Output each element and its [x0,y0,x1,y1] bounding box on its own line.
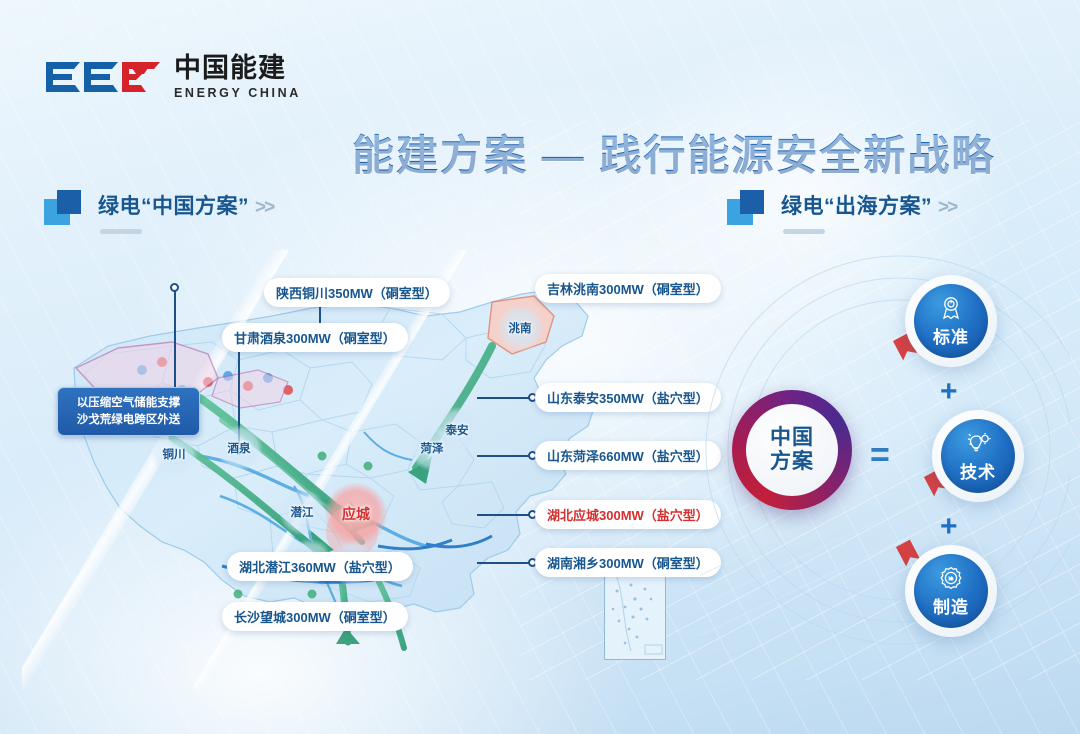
city-marker-jiuquan[interactable]: 酒泉 [228,440,251,456]
page-title: 能建方案 — 践行能源安全新战略 [352,122,995,183]
callout-hubei-qianjiang[interactable]: 湖北潜江360MW（盐穴型） [227,552,413,581]
section-underline [100,229,142,234]
city-marker-qianjiang[interactable]: 潜江 [291,504,314,520]
ceec-logo-icon [44,58,162,96]
city-label: 菏泽 [421,440,444,456]
node-label: 技术 [960,458,996,483]
info-box-transmission: 以压缩空气储能支撑 沙戈荒绿电跨区外送 [57,387,200,436]
callout-shandong-heze[interactable]: 山东菏泽660MW（盐穴型） [535,441,721,470]
leader-line [477,562,533,564]
city-label: 应城 [342,504,370,524]
center-label-line-2: 方案 [770,450,814,474]
info-box-line-2: 沙戈荒绿电跨区外送 [64,412,193,429]
city-label: 洮南 [509,320,532,336]
city-label: 潜江 [291,504,314,520]
city-marker-yingcheng[interactable]: 应城 [342,504,370,524]
poster-canvas: 中国能建 ENERGY CHINA 能建方案 — 践行能源安全新战略 绿电“中国… [0,0,1080,734]
leader-line [477,397,533,399]
chevron-right-icon: >> [938,197,956,219]
section-left-title: 绿电“中国方案” [98,190,249,220]
node-standard[interactable]: 标准 [905,275,997,367]
info-box-line-1: 以压缩空气储能支撑 [64,395,193,412]
medal-badge-icon [938,295,964,321]
city-marker-tongchuan[interactable]: 铜川 [163,446,186,462]
brand-name-cn: 中国能建 [174,55,301,82]
city-marker-heze[interactable]: 菏泽 [421,440,444,456]
section-square-icon [727,190,767,230]
callout-jilin-taonan[interactable]: 吉林洮南300MW（硐室型） [535,274,721,303]
leader-dot [170,283,179,292]
node-label: 制造 [933,593,969,618]
brand-logo: 中国能建 ENERGY CHINA [44,55,301,100]
callout-hubei-yingcheng[interactable]: 湖北应城300MW（盐穴型） [535,500,721,529]
callout-gansu-jiuquan[interactable]: 甘肃酒泉300MW（硐室型） [222,323,408,352]
node-technology[interactable]: 技术 [932,410,1024,502]
node-label: 标准 [933,323,969,348]
city-label: 铜川 [163,446,186,462]
section-header-right: 绿电“出海方案” >> [727,190,956,234]
callout-changsha-wangcheng[interactable]: 长沙望城300MW（硐室型） [222,602,408,631]
section-square-icon [44,190,84,230]
gear-factory-icon [938,565,964,591]
china-solution-diagram: 中国 方案 = 标准 + [700,250,1070,690]
center-label-line-1: 中国 [770,426,814,450]
plus-sign: + [940,512,958,542]
city-label: 酒泉 [228,440,251,456]
brand-name-en: ENERGY CHINA [174,87,301,100]
leader-line [477,514,533,516]
section-underline [783,229,825,234]
callout-shaanxi-tongchuan[interactable]: 陕西铜川350MW（硐室型） [264,278,450,307]
center-node-china-solution[interactable]: 中国 方案 [732,390,852,510]
callout-hunan-xiangxiang[interactable]: 湖南湘乡300MW（硐室型） [535,548,721,577]
equals-sign: = [870,436,890,475]
node-manufacturing[interactable]: 制造 [905,545,997,637]
section-right-title: 绿电“出海方案” [781,190,932,220]
chevron-right-icon: >> [255,197,273,219]
section-header-left: 绿电“中国方案” >> [44,190,273,234]
leader-line [477,455,533,457]
callout-shandong-taian[interactable]: 山东泰安350MW（盐穴型） [535,383,721,412]
city-marker-taonan[interactable]: 洮南 [509,320,532,336]
brain-gear-icon [965,430,992,456]
china-map: 洮南 酒泉 铜川 泰安 菏泽 应城 潜江 长沙 湘乡 以压缩空气储能支撑 沙戈荒… [22,250,682,690]
plus-sign: + [940,377,958,407]
